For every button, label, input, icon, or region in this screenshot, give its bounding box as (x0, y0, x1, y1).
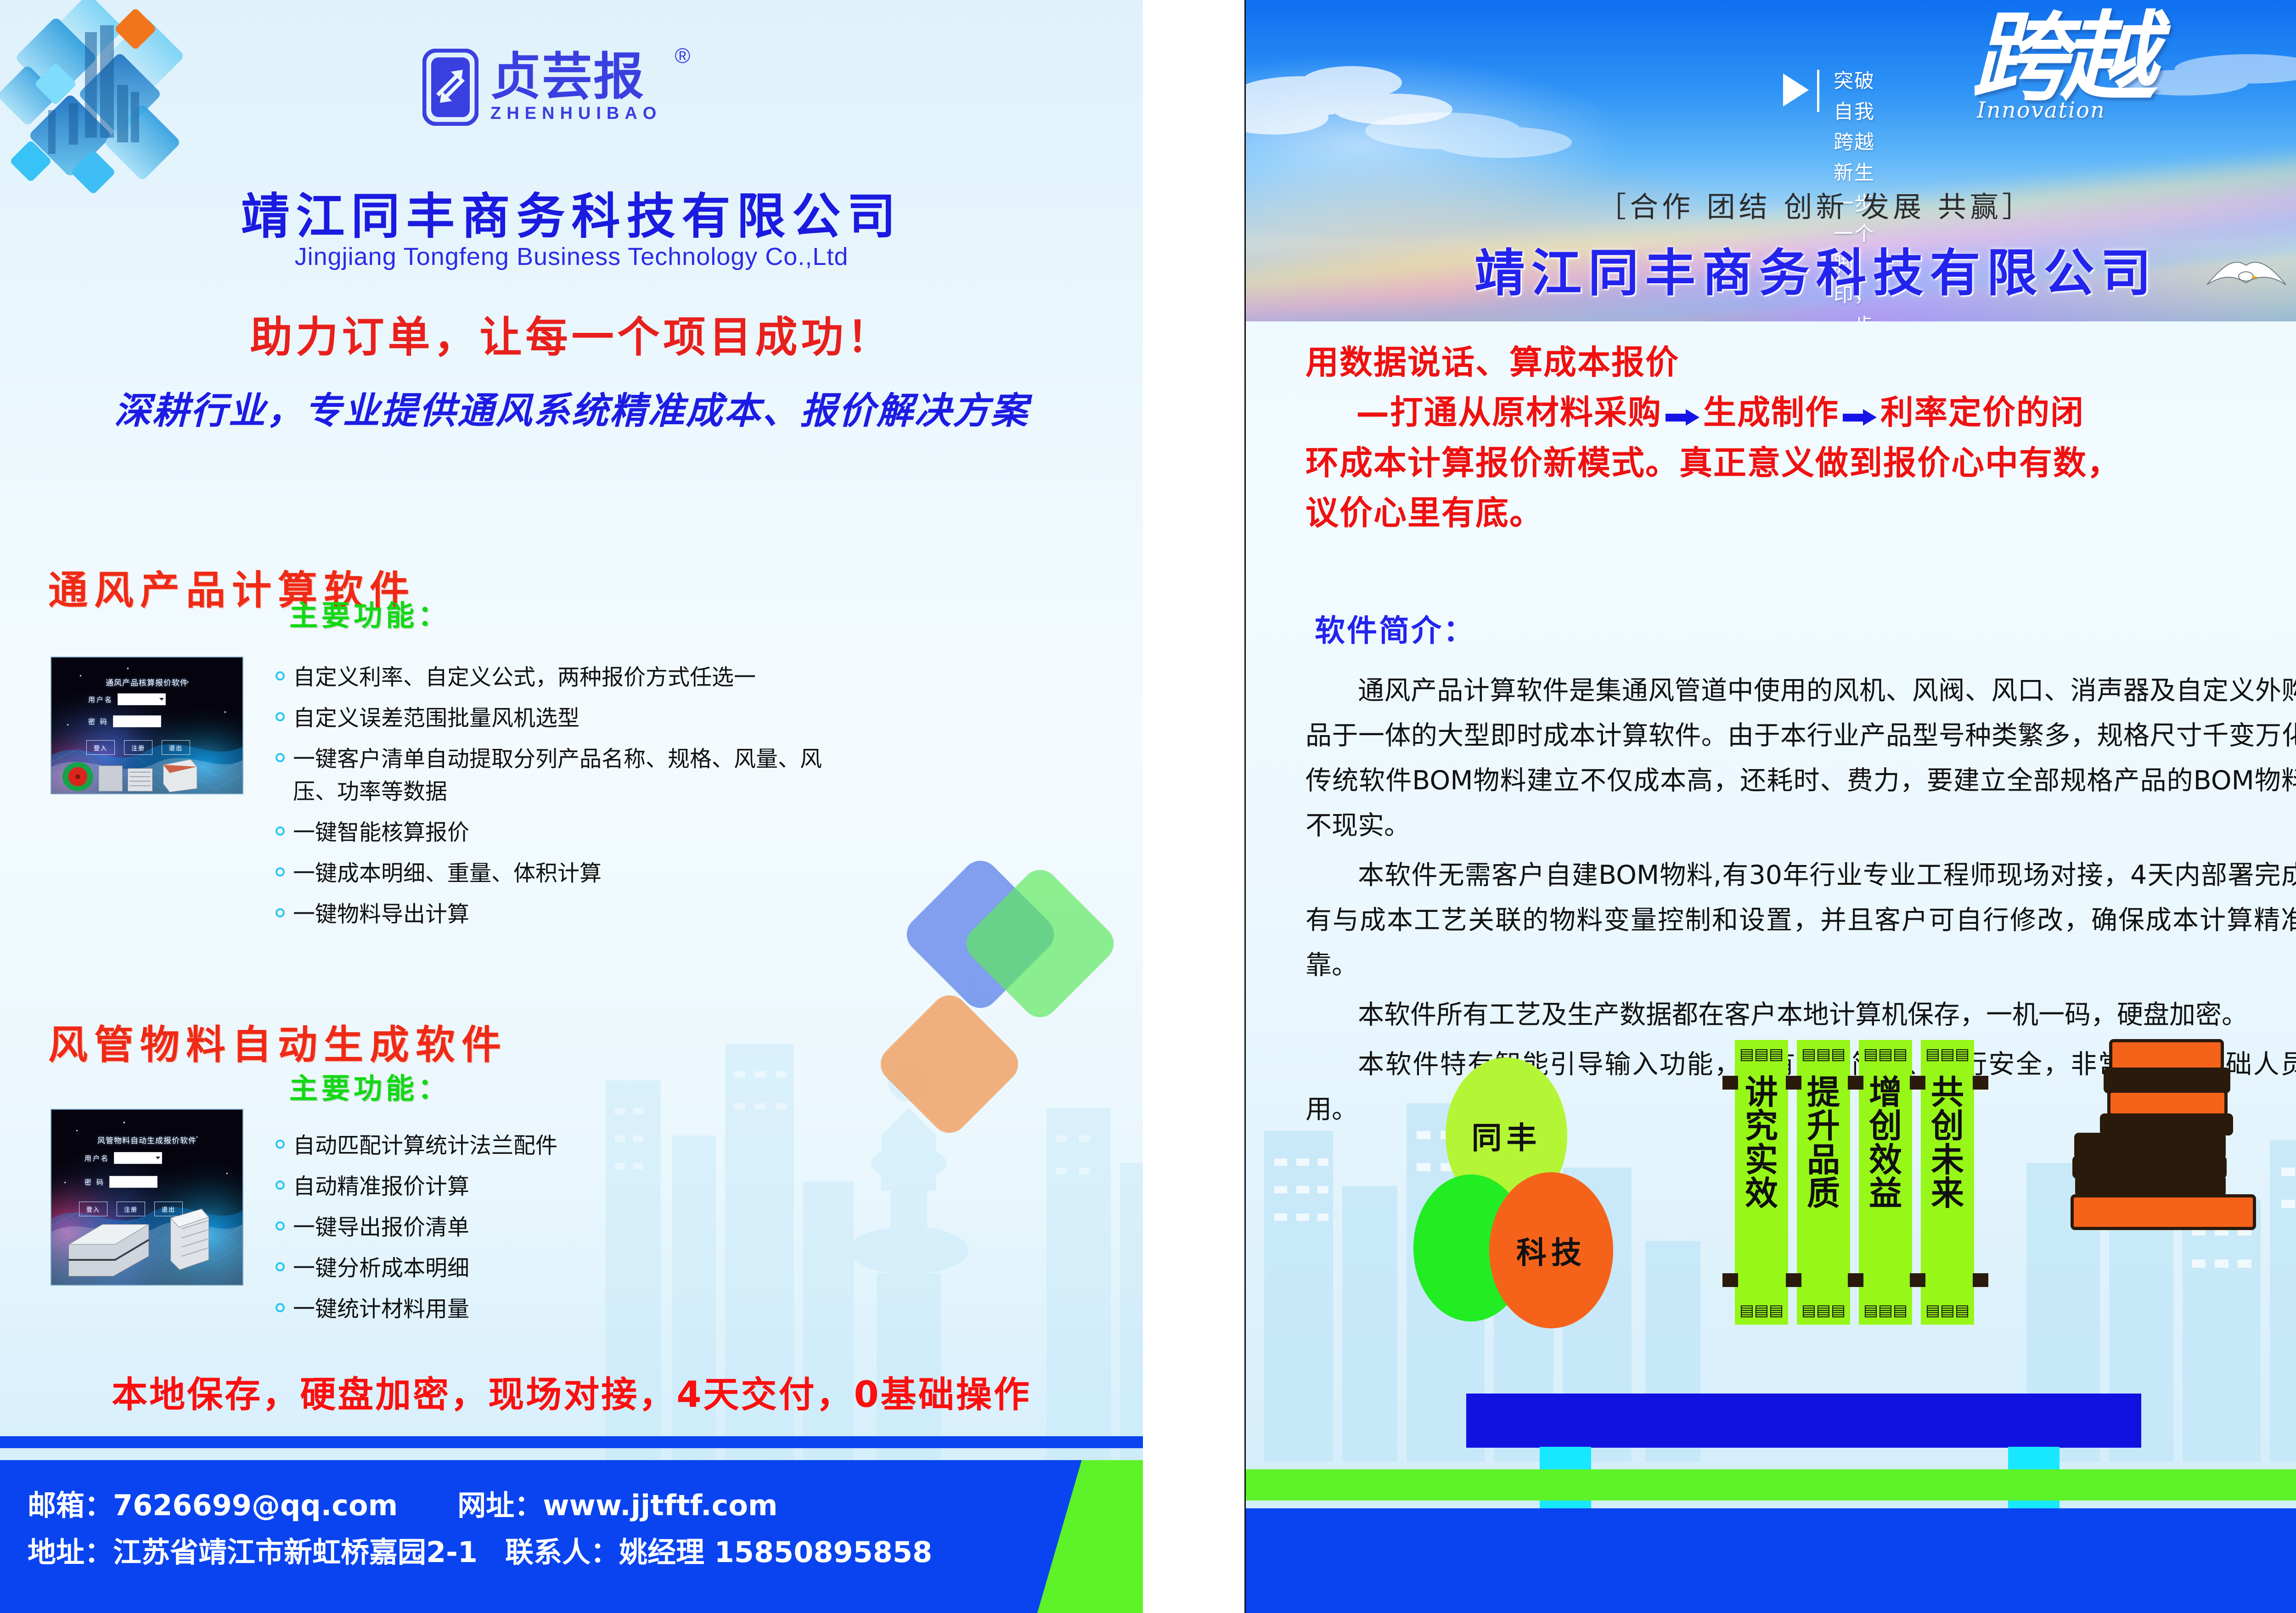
banner-ornament-top: ▤▤▤ (1735, 1040, 1788, 1068)
banner-char: 创 (1869, 1109, 1902, 1143)
register-button[interactable]: 注册 (117, 1202, 145, 1216)
feature-text: 自动精准报价计算 (293, 1170, 850, 1203)
product-2-screenshot-title: 风管物料自动生成报价软件 (51, 1134, 242, 1146)
banner-ornament-bottom: ▤▤▤ (1859, 1296, 1912, 1325)
banner-clip (1910, 1273, 1925, 1287)
banner-clip (1848, 1076, 1863, 1090)
banner-ornament-bottom: ▤▤▤ (1921, 1296, 1974, 1325)
seagull-icon (2202, 239, 2290, 298)
bullet-icon (276, 753, 285, 762)
oval-badge-tongfeng-text: 同丰 (1472, 1113, 1542, 1158)
intro-paragraph: 本软件无需客户自建BOM物料,有30年行业专业工程师现场对接，4天内部署完成所有… (1306, 853, 2296, 988)
cloud-decoration (1246, 28, 1613, 179)
right-footer-green-bar (1246, 1469, 2296, 1501)
footer-green-wedge (1037, 1460, 1143, 1613)
bullet-icon (276, 826, 285, 836)
screenshot-1-password-row: 密 码 (88, 715, 161, 727)
product-1-screenshot-title: 通风产品核算报价软件 (51, 676, 242, 688)
bullet-icon (276, 908, 285, 917)
banner-char: 增 (1869, 1076, 1902, 1109)
website-label: 网址： (457, 1482, 543, 1523)
banner-char: 品 (1807, 1143, 1840, 1177)
banner-clip (1973, 1076, 1988, 1090)
banner-char: 究 (1745, 1109, 1778, 1143)
username-input[interactable] (114, 1152, 162, 1164)
contact-value[interactable]: 姚经理 15850895858 (619, 1529, 932, 1570)
bullet-icon (276, 867, 285, 877)
shelf-bar (1466, 1394, 2141, 1448)
bullet-icon (276, 1262, 285, 1271)
address-label: 地址： (28, 1529, 113, 1570)
list-item: 一键客户清单自动提取分列产品名称、规格、风量、风压、功率等数据 (276, 743, 850, 808)
banner-char: 提 (1807, 1076, 1840, 1109)
right-headline: 用数据说话、算成本报价 —打通从原材料采购生成制作利率定价的闭 环成本计算报价新… (1306, 337, 2296, 539)
slogan-primary: 助力订单，让每一个项目成功！ (0, 303, 1143, 364)
bullet-icon (276, 671, 285, 680)
headline-l2-c: 利率定价的闭 (1880, 393, 2084, 432)
feature-text: 自定义误差范围批量风机选型 (293, 702, 850, 735)
product-2-features-heading: 主要功能： (289, 1065, 450, 1107)
headline-line-2: —打通从原材料采购生成制作利率定价的闭 (1306, 388, 2296, 438)
book-dark-5 (2075, 1175, 2226, 1197)
logo-pinyin-text: ZHENHUIBAO (490, 104, 662, 124)
intro-paragraph: 通风产品计算软件是集通风管道中使用的风机、风阀、风口、消声器及自定义外购产品于一… (1306, 668, 2296, 848)
banner-char: 共 (1931, 1076, 1964, 1109)
banner-clip (1722, 1076, 1738, 1090)
arrow-right-icon (1843, 409, 1877, 426)
oval-badge-keji-text: 科技 (1516, 1228, 1586, 1272)
zhenhuibao-logo-icon (422, 49, 478, 126)
banner-clip (1786, 1273, 1801, 1287)
software-intro-heading: 软件简介： (1315, 606, 1475, 650)
kuayue-english: Innovation (1977, 97, 2105, 123)
footer-line-address-contact: 地址： 江苏省靖江市新虹桥嘉园2-1 联系人： 姚经理 15850895858 (28, 1529, 932, 1570)
bullet-icon (276, 1140, 285, 1149)
hero-company-name: 靖江同丰商务科技有限公司 (1246, 232, 2296, 305)
left-flyer-page: 贞芸报 ZHENHUIBAO ® 靖江同丰商务科技有限公司 Jingjiang … (0, 0, 1143, 1613)
login-button[interactable]: 登入 (79, 1202, 107, 1216)
banner-column-1: ▤▤▤ 讲 究 实 效 ▤▤▤ (1735, 1040, 1788, 1325)
kuayue-chinese: 跨越 (1971, 9, 2155, 106)
footer-top-rule (0, 1436, 1143, 1448)
list-item: 自定义利率、自定义公式，两种报价方式任选一 (276, 661, 850, 694)
banner-clip (1848, 1273, 1863, 1287)
product-1-features-heading: 主要功能： (289, 592, 450, 634)
banner-clip (1786, 1076, 1801, 1090)
list-item: 自定义误差范围批量风机选型 (276, 702, 850, 735)
decor-diamond-orange (873, 988, 1025, 1140)
book-orange-2 (2107, 1090, 2228, 1117)
oval-badge-keji: 科技 (1489, 1172, 1613, 1328)
list-item: 自动精准报价计算 (276, 1170, 850, 1203)
list-item: 一键导出报价清单 (276, 1211, 850, 1244)
address-value: 江苏省靖江市新虹桥嘉园2-1 (113, 1529, 478, 1570)
banner-char: 升 (1807, 1109, 1840, 1143)
feature-text: 一键分析成本明细 (293, 1252, 850, 1285)
arrow-right-icon (1666, 409, 1699, 426)
banner-char: 来 (1931, 1177, 1964, 1210)
list-item: 一键智能核算报价 (276, 816, 850, 849)
book-dark-2 (2100, 1113, 2233, 1135)
headline-line-1: 用数据说话、算成本报价 (1306, 337, 2296, 388)
feature-text: 自动匹配计算统计法兰配件 (293, 1130, 850, 1162)
banner-column-3: ▤▤▤ 增 创 效 益 ▤▤▤ (1859, 1040, 1912, 1325)
list-item: 自动匹配计算统计法兰配件 (276, 1130, 850, 1162)
exit-button[interactable]: 退出 (162, 740, 190, 755)
register-button[interactable]: 注册 (124, 740, 152, 755)
password-input[interactable] (113, 715, 161, 727)
email-value[interactable]: 7626699@qq.com (113, 1489, 398, 1522)
registered-trademark-icon: ® (675, 43, 690, 68)
password-label: 密 码 (84, 1177, 105, 1187)
right-footer-blue-bar (1246, 1508, 2296, 1613)
right-flyer-page: 跨越 Innovation 突破自我 跨越新生 一步一个脚印，一步一个跨越。 未… (1244, 0, 2296, 1613)
logo-chinese-text: 贞芸报 (490, 51, 662, 102)
bullet-icon (276, 712, 285, 721)
screenshot-2-username-row: 用户名 (84, 1152, 162, 1164)
banner-ornament-bottom: ▤▤▤ (1735, 1296, 1788, 1325)
bullet-icon (276, 1303, 285, 1312)
banner-clip (1910, 1076, 1925, 1090)
left-bottom-tagline: 本地保存，硬盘加密，现场对接，4天交付，0基础操作 (0, 1366, 1143, 1417)
banner-ornament-bottom: ▤▤▤ (1797, 1296, 1850, 1325)
headline-line-4: 议价心里有底。 (1306, 488, 2296, 538)
book-orange-bottom (2071, 1194, 2256, 1230)
core-values-text: ［合作 团结 创新 发展 共赢］ (1246, 184, 2296, 225)
username-input[interactable] (118, 693, 166, 705)
product-1-screenshot: 通风产品核算报价软件 用户名 密 码 登入 注册 退出 (51, 657, 243, 794)
feature-text: 一键物料导出计算 (293, 898, 850, 931)
banner-char: 未 (1931, 1143, 1964, 1177)
banner-ornament-top: ▤▤▤ (1859, 1040, 1912, 1068)
banner-char: 讲 (1745, 1076, 1778, 1109)
bullet-icon (276, 1221, 285, 1231)
login-button[interactable]: 登入 (86, 740, 115, 755)
hero-tag-line-1: 突破自我 跨越新生 (1834, 66, 1875, 189)
list-item: 一键物料导出计算 (276, 898, 850, 931)
company-name-en: Jingjiang Tongfeng Business Technology C… (0, 242, 1143, 271)
screenshot-1-button-row: 登入 注册 退出 (86, 740, 190, 755)
product-1-features-list: 自定义利率、自定义公式，两种报价方式任选一 自定义误差范围批量风机选型 一键客户… (276, 661, 850, 939)
feature-text: 一键客户清单自动提取分列产品名称、规格、风量、风压、功率等数据 (293, 743, 850, 808)
website-value[interactable]: www.jjtftf.com (543, 1489, 777, 1522)
seagull-icon-small (2294, 257, 2296, 298)
feature-text: 一键导出报价清单 (293, 1211, 850, 1244)
book-orange-top (2109, 1039, 2224, 1071)
password-input[interactable] (109, 1176, 158, 1188)
play-triangle-icon (1783, 73, 1809, 107)
feature-text: 自定义利率、自定义公式，两种报价方式任选一 (293, 661, 850, 694)
headline-l2-b: 生成制作 (1703, 393, 1839, 432)
headline-l2-a: —打通从原材料采购 (1356, 393, 1662, 432)
email-label: 邮箱： (28, 1482, 113, 1523)
screenshot-2-button-row: 登入 注册 退出 (79, 1202, 183, 1216)
banner-char: 质 (1807, 1177, 1840, 1210)
diamond-city-decoration (0, 0, 193, 202)
banner-char: 实 (1745, 1143, 1778, 1177)
slogan-secondary: 深耕行业，专业提供通风系统精准成本、报价解决方案 (0, 381, 1143, 434)
brand-logo: 贞芸报 ZHENHUIBAO ® (422, 28, 790, 147)
banner-ornament-top: ▤▤▤ (1797, 1040, 1850, 1068)
bullet-icon (276, 1180, 285, 1190)
feature-text: 一键统计材料用量 (293, 1293, 850, 1326)
banner-column-2: ▤▤▤ 提 升 品 质 ▤▤▤ (1797, 1040, 1850, 1325)
contact-footer: 邮箱： 7626699@qq.com 网址： www.jjtftf.com 地址… (0, 1460, 1143, 1613)
screenshot-1-username-row: 用户名 (88, 693, 166, 705)
screenshot-2-password-row: 密 码 (84, 1176, 158, 1188)
company-name-cn: 靖江同丰商务科技有限公司 (0, 177, 1143, 247)
divider-bar (1817, 70, 1819, 112)
list-item: 一键统计材料用量 (276, 1293, 850, 1326)
product-2-screenshot: 风管物料自动生成报价软件 用户名 密 码 登入 注册 退出 (51, 1109, 243, 1286)
feature-text: 一键成本明细、重量、体积计算 (293, 857, 850, 890)
exit-button[interactable]: 退出 (154, 1202, 183, 1216)
banner-char: 创 (1931, 1109, 1964, 1143)
intro-paragraph: 本软件所有工艺及生产数据都在客户本地计算机保存，一机一码，硬盘加密。 (1306, 992, 2296, 1037)
banner-char: 效 (1745, 1177, 1778, 1210)
banner-clip (1722, 1273, 1738, 1287)
product-2-title: 风管物料自动生成软件 (48, 1012, 507, 1070)
headline-line-3: 环成本计算报价新模式。真正意义做到报价心中有数， (1306, 438, 2296, 488)
banner-char: 益 (1869, 1177, 1902, 1210)
banner-column-4: ▤▤▤ 共 创 未 来 ▤▤▤ (1921, 1040, 1974, 1325)
feature-text: 一键智能核算报价 (293, 816, 850, 849)
banner-clip (1973, 1273, 1988, 1287)
hero-banner: 跨越 Innovation 突破自我 跨越新生 一步一个脚印，一步一个跨越。 未… (1246, 0, 2296, 321)
password-label: 密 码 (88, 717, 108, 726)
banner-ornament-top: ▤▤▤ (1921, 1040, 1974, 1068)
footer-line-email-website: 邮箱： 7626699@qq.com 网址： www.jjtftf.com (28, 1482, 778, 1523)
list-item: 一键成本明细、重量、体积计算 (276, 857, 850, 890)
book-stack (2068, 1039, 2261, 1324)
kuayue-logo: 跨越 Innovation (1971, 9, 2155, 142)
product-2-features-list: 自动匹配计算统计法兰配件 自动精准报价计算 一键导出报价清单 一键分析成本明细 … (276, 1130, 850, 1334)
contact-label: 联系人： (505, 1529, 619, 1570)
list-item: 一键分析成本明细 (276, 1252, 850, 1285)
username-label: 用户名 (84, 1153, 109, 1163)
username-label: 用户名 (88, 695, 113, 704)
banner-char: 效 (1869, 1143, 1902, 1177)
